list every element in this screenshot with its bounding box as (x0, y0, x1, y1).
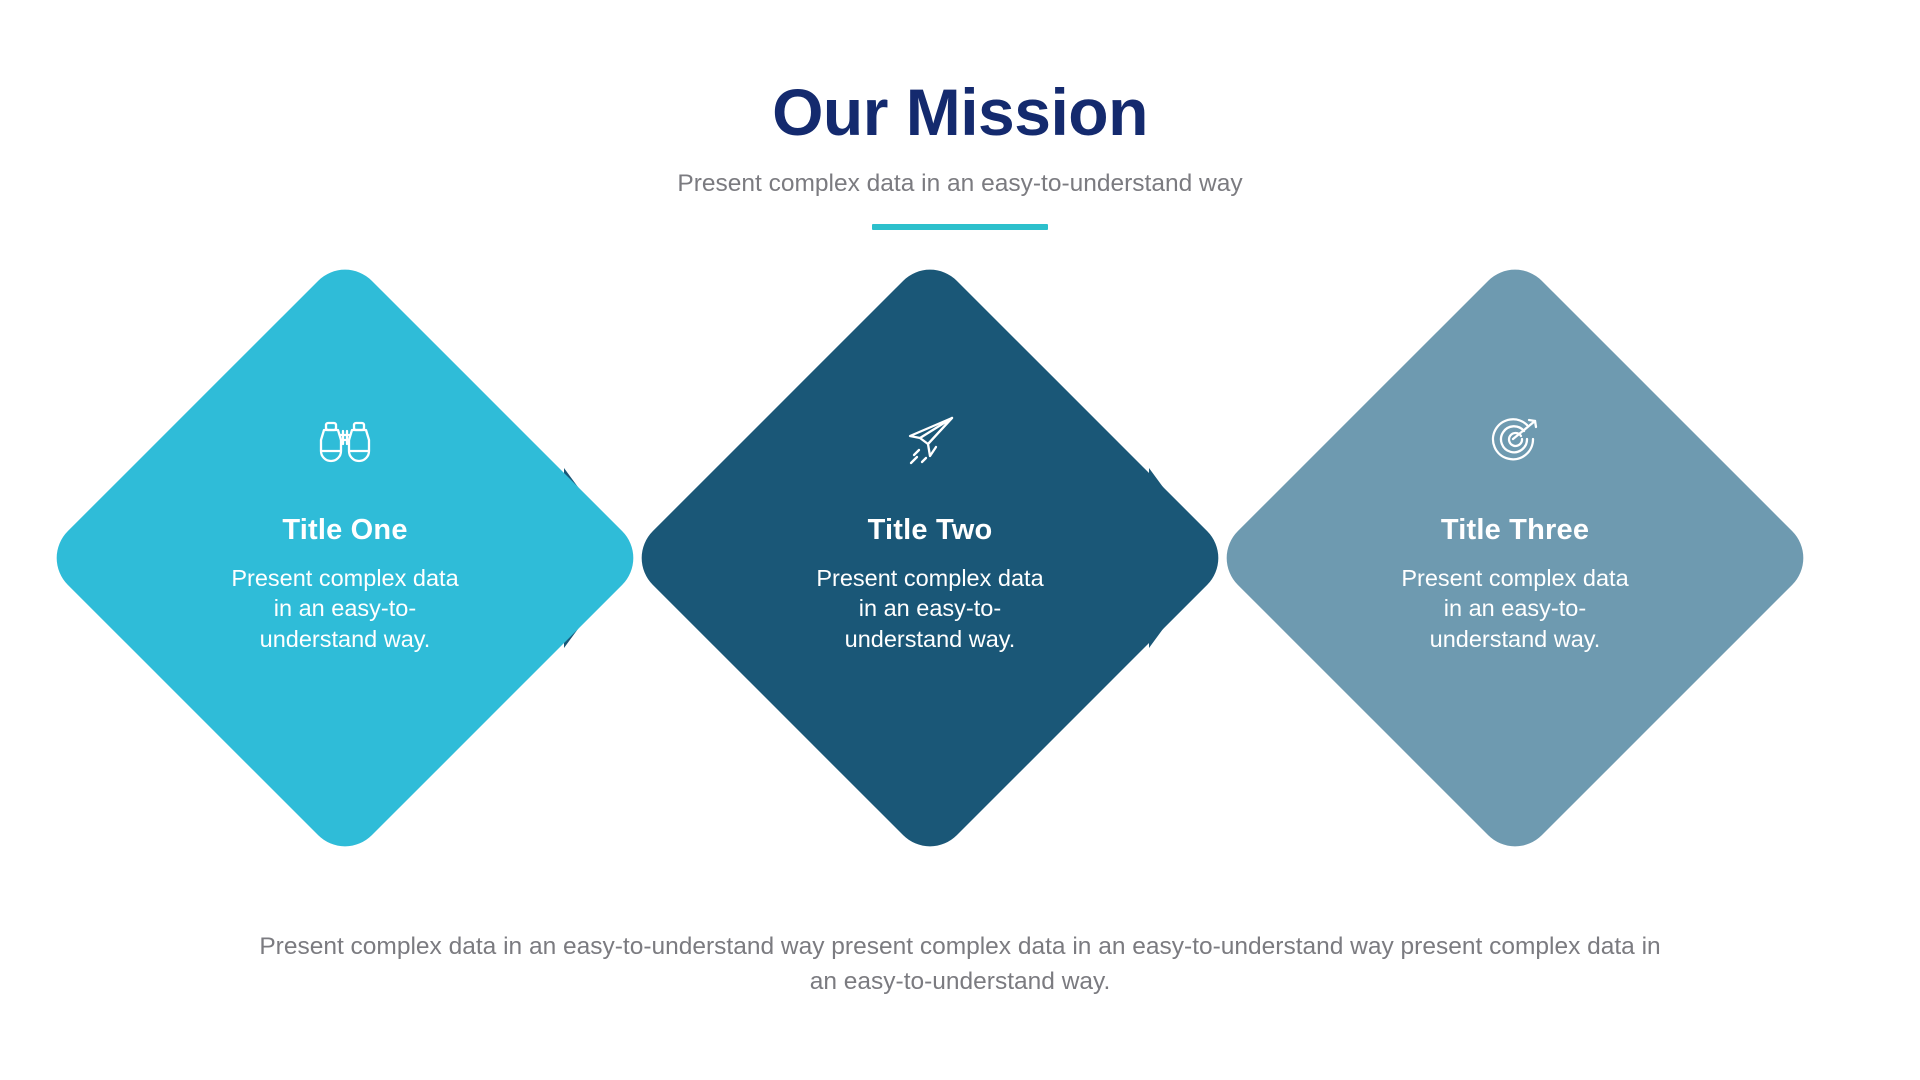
title-accent-bar (872, 224, 1048, 230)
diamond-shape-two[interactable] (626, 254, 1234, 862)
page-subtitle: Present complex data in an easy-to-under… (0, 169, 1920, 198)
slide-canvas: Our Mission Present complex data in an e… (0, 0, 1920, 1080)
slide-header: Our Mission Present complex data in an e… (0, 78, 1920, 230)
slide-footer: Present complex data in an easy-to-under… (0, 930, 1920, 1000)
diamond-shape-one[interactable] (41, 254, 649, 862)
page-title: Our Mission (0, 78, 1920, 147)
diamond-shape-three[interactable] (1211, 254, 1819, 862)
process-diagram: Title One Present complex data in an eas… (0, 278, 1920, 838)
footer-caption: Present complex data in an easy-to-under… (250, 930, 1670, 1000)
